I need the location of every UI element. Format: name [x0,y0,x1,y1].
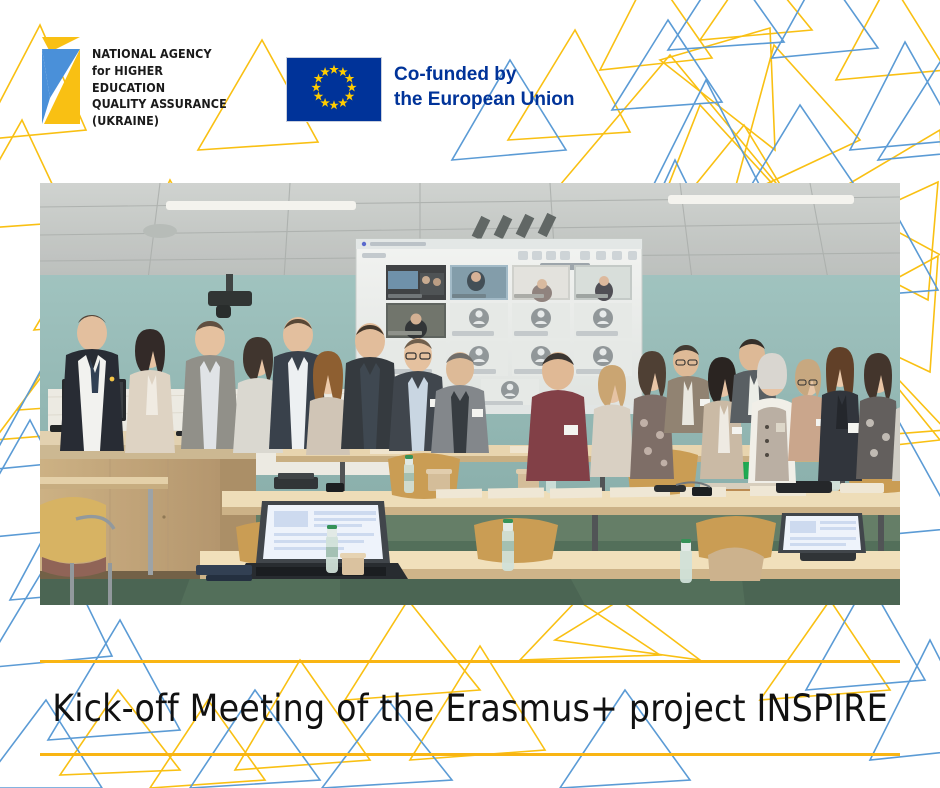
naqa-book-mark-icon [36,36,88,132]
naqa-line-1: NATIONAL AGENCY [92,46,232,63]
eu-caption: Co-funded by the European Union [394,62,575,112]
naqa-logo-text: NATIONAL AGENCY for HIGHER EDUCATION QUA… [92,46,232,130]
poster-header: NATIONAL AGENCY for HIGHER EDUCATION QUA… [0,0,940,150]
naqa-line-3: QUALITY ASSURANCE [92,96,232,113]
divider-top [40,660,900,663]
naqa-line-4: (UKRAINE) [92,113,232,130]
page-title: Kick-off Meeting of the Erasmus+ project… [40,672,900,744]
eu-funding-logo: Co-funded by the European Union [286,57,586,123]
naqa-logo: NATIONAL AGENCY for HIGHER EDUCATION QUA… [36,36,226,136]
naqa-line-2: for HIGHER EDUCATION [92,63,232,97]
eu-flag-icon [286,57,382,122]
eu-caption-line-2: the European Union [394,87,575,112]
poster-canvas: NATIONAL AGENCY for HIGHER EDUCATION QUA… [0,0,940,788]
naqa-line-2-prefix: for [92,63,110,78]
divider-bottom [40,753,900,756]
group-photo [40,183,900,605]
eu-caption-line-1: Co-funded by [394,62,575,87]
